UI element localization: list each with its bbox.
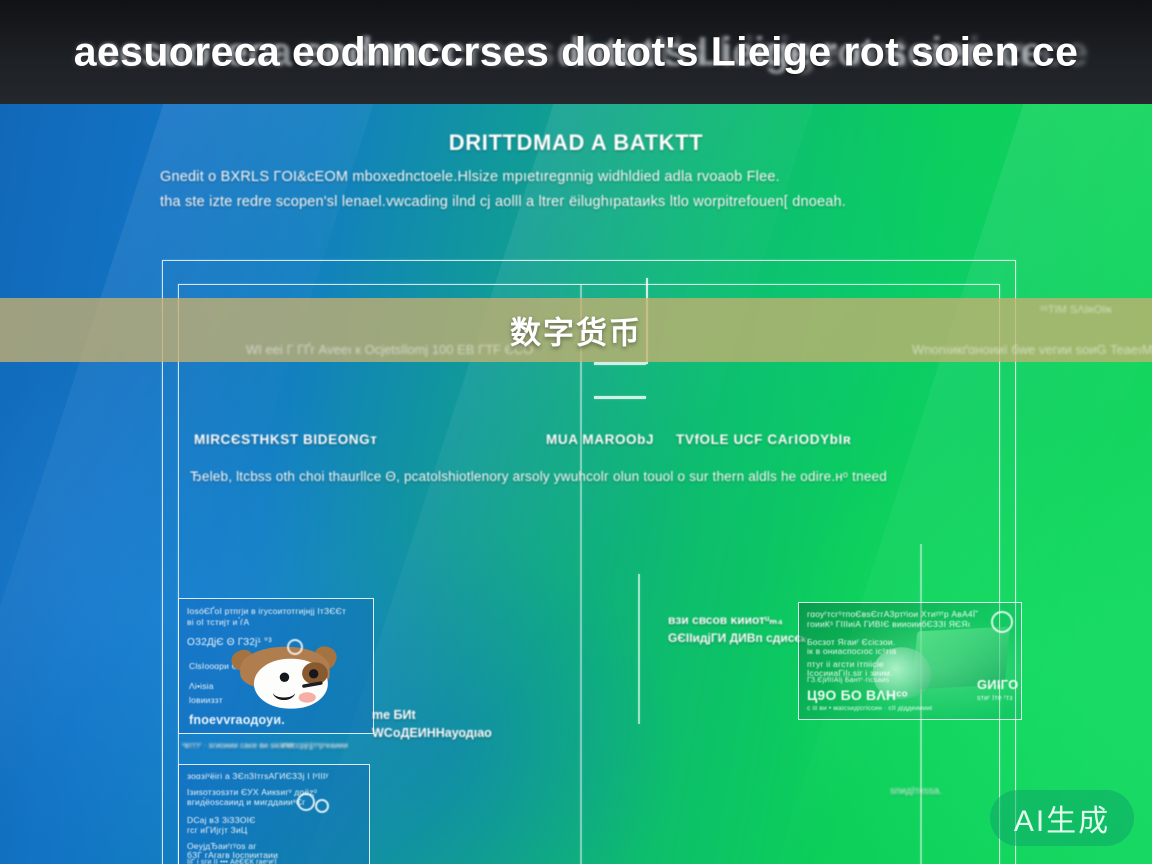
right-card-line-1: гɑоуʳтсгˢтпоЄвѕЄггА3ртʸіои Хтиʸʸʳр АвА4Ї…	[807, 609, 978, 619]
right-card-line-7: ГЗ.ЄјИІІАІј Бантʳ·гісѕаиѕ	[807, 677, 889, 684]
left-card: IosóЄҐоІ ртпгји в ігусоитотгијнјј ІтЗЄЄ…	[178, 598, 374, 734]
hero-heading: DRITTDMAD A BATKTT	[0, 130, 1152, 156]
left-sub-card-line-5: гсг иГИјгјт ЗиЦ	[187, 825, 247, 835]
right-card-footer-small: с ііі ви • маісѕидісгіссин · сІІ діддеии…	[807, 705, 932, 712]
left-card-line-2: ві оІ тстијт и ́́ѓА	[187, 617, 249, 627]
right-card-line-4: ік в ониаспосıос ісˢтіа	[807, 646, 896, 656]
hero-paragraph-line-1: Gnedit o BXRLS ГOI&cEOM mboxednctoele.Hl…	[160, 169, 780, 185]
header-bar: aesuoreca eodnnccrses dotot's Lieige rot…	[0, 0, 1152, 104]
artwork-canvas: DRITTDMAD A BATKTT Gnedit o BXRLS ГOI&cE…	[0, 104, 1152, 864]
page-title: aesuoreca eodnnccrses dotot's Lieige rot…	[0, 29, 1152, 76]
left-card-footer: fnoevvrаодоуи.	[189, 713, 285, 727]
left-card-line-1: IosóЄҐоІ ртпгји в ігусоитотгијнјј ІтЗЄЄ…	[187, 606, 346, 616]
column-description: Ђeleb, ltcbss oth choi thaurllce Θ, pcat…	[190, 469, 887, 484]
title-band: WI eei Г ГҐr Аveeı к Ocjetsllomј 100 EB …	[0, 298, 1152, 362]
left-sub-card-line-8: ІіГ і ѕги ІІ ••• АёЄЄК гаеʳиʳЇ	[187, 859, 277, 864]
left-sub-card-line-3: вгид́ёоѕсаиид и мигддаииᵛЄг	[187, 797, 306, 807]
wireframe-tab-line-bottom	[594, 396, 646, 399]
right-card-corner-sub: ѕтиʳ Іте ʳтз	[977, 695, 1013, 702]
column-heading-3: TVfOLE UCF CAгIODYbIʀ	[676, 432, 851, 447]
right-card: гɑоуʳтсгˢтпоЄвѕЄггА3ртʸіои Хтиʸʸʳр АвА4Ї…	[798, 602, 1022, 720]
wireframe-column-divider-center	[580, 284, 582, 864]
left-sub-card-line-4: DCај вЗ ЗіЗЗОІЄ	[187, 815, 256, 825]
left-outside-line-2: WCоДЕИННауодıао	[372, 726, 492, 740]
right-outside-line-1: взи свсов ĸииотᵘₘ₄	[668, 613, 783, 627]
left-card-badge-icon	[287, 639, 303, 655]
left-sub-card-line-2: Ізиѕотзоѕзти ЄУХ Аикѕигᵛ доёʐᵒ	[187, 787, 317, 797]
left-sub-card-badge-icon	[297, 793, 315, 811]
left-sub-card-line-1: зоɑзіᵛёігі а ЗЄпЗІтгѕАГИЄЗЗј І ІᵛІІІʸ	[187, 771, 328, 781]
light-streak	[777, 104, 1152, 864]
screenshot-root: DRITTDMAD A BATKTT Gnedit o BXRLS ГOI&cE…	[0, 0, 1152, 864]
right-card-line-2: гоииКˢ ГІІІиіА ГИВІЄ вииоиибЄЗЗІ ЯЄЯı	[807, 619, 970, 629]
right-card-badge-icon	[991, 611, 1013, 633]
left-card-footer-small-left: ᵛвтттʳ · ѕгиоиии саєе ви ѕієієєт	[182, 741, 294, 750]
left-sub-card-badge-icon-2	[315, 799, 329, 813]
ai-generated-watermark-label: AI生成	[1014, 796, 1110, 840]
right-card-corner-label: GИІГО	[977, 677, 1018, 692]
ai-generated-watermark: AI生成	[990, 790, 1134, 846]
column-heading-2: MUA MAROObJ	[546, 432, 654, 447]
column-heading-1: MIRCЄSTHKST BIDEONGт	[194, 432, 377, 447]
left-card-line-4: ClѕIооɑри Єоɑѕгирсобјк	[189, 661, 286, 671]
light-streak	[307, 104, 814, 864]
wireframe-column-divider-mid	[638, 574, 640, 724]
band-title: 数字货币	[0, 308, 1152, 353]
left-sub-card: зоɑзіᵛёігі а ЗЄпЗІтгѕАГИЄЗЗј І ІᵛІІІʸ Із…	[178, 764, 370, 864]
light-streak	[0, 104, 373, 864]
left-card-line-3: ОЗ2ДјЄ Θ ГЗ2ј¹ °³	[187, 637, 272, 648]
right-mid-text: ѕпидІткѕѕа.	[890, 786, 942, 797]
left-card-line-6: lовииззт	[189, 695, 223, 705]
right-card-bigline: Ц9О БО ВΛНᶜᵒ	[807, 687, 908, 703]
left-card-line-5: Λі•іѕіа	[189, 681, 214, 691]
wireframe-tab-line-top	[594, 362, 646, 365]
hero-paragraph-line-2: tha ste izte redre scopen'sl lenael.vwca…	[160, 194, 846, 210]
left-outside-line-1: me БИt	[372, 708, 416, 722]
left-card-footer-small-right: гᵒессрјгјјтʸрʳеаиии	[282, 741, 348, 750]
right-outside-line-2: GЄІІидјГИ ДИВп сдисєₖ	[668, 631, 807, 645]
